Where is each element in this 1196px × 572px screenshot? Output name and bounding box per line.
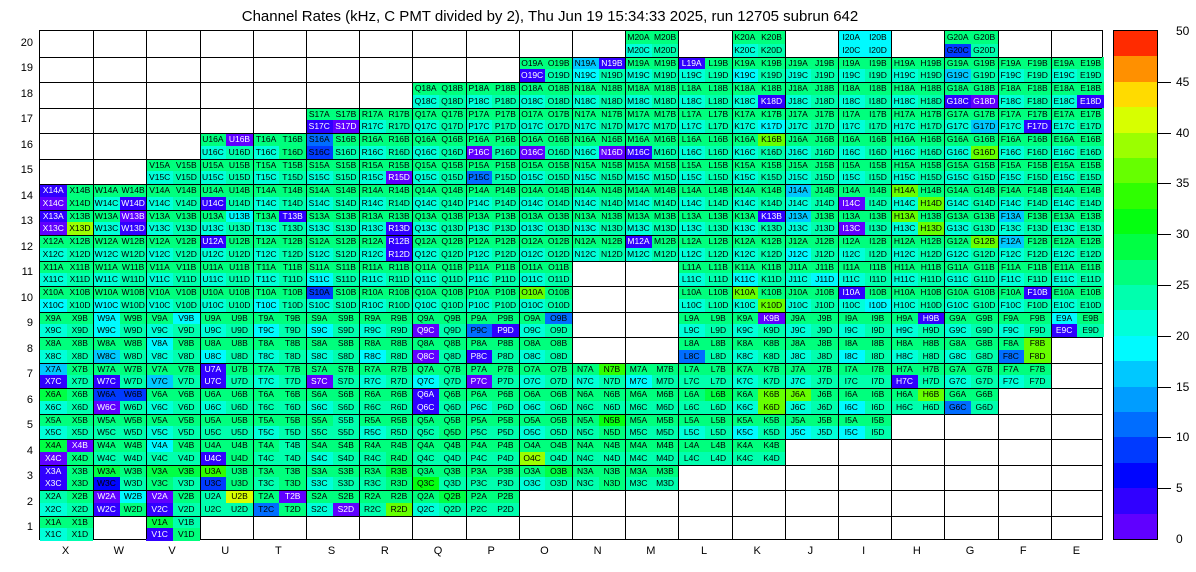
heatmap-channel-cell[interactable]: F14D <box>1024 197 1051 210</box>
heatmap-channel-cell[interactable]: O16D <box>545 146 572 159</box>
heatmap-pad[interactable]: V3AV3BV3CV3D <box>146 465 199 491</box>
heatmap-pad[interactable]: O3AO3BO3CO3D <box>519 465 572 491</box>
heatmap-channel-cell[interactable]: I13D <box>865 222 892 235</box>
heatmap-channel-cell[interactable]: L13C <box>678 222 705 235</box>
heatmap-channel-cell[interactable]: N7C <box>572 375 599 388</box>
heatmap-channel-cell[interactable]: L6D <box>705 401 732 414</box>
heatmap-pad[interactable]: H9AH9BH9CH9D <box>891 312 944 338</box>
heatmap-channel-cell[interactable]: U4A <box>200 439 227 452</box>
heatmap-channel-cell[interactable]: P14A <box>466 184 493 197</box>
heatmap-pad[interactable]: Q4AQ4BQ4CQ4D <box>412 439 465 465</box>
heatmap-channel-cell[interactable]: Q15D <box>439 171 466 184</box>
heatmap-channel-cell[interactable]: M13C <box>625 222 652 235</box>
heatmap-pad[interactable]: P3AP3BP3CP3D <box>466 465 519 491</box>
heatmap-channel-cell[interactable]: N15D <box>599 171 626 184</box>
heatmap-channel-cell[interactable]: Q11C <box>412 273 439 286</box>
heatmap-channel-cell[interactable]: F19B <box>1024 57 1051 70</box>
heatmap-channel-cell[interactable]: K12B <box>758 235 785 248</box>
heatmap-channel-cell[interactable]: K10D <box>758 299 785 312</box>
heatmap-channel-cell[interactable]: M4A <box>625 439 652 452</box>
heatmap-channel-cell[interactable]: K17A <box>732 108 759 121</box>
heatmap-channel-cell[interactable]: E13C <box>1051 222 1078 235</box>
heatmap-channel-cell[interactable]: M12C <box>625 248 652 261</box>
heatmap-pad[interactable]: T6AT6BT6CT6D <box>253 388 306 414</box>
heatmap-channel-cell[interactable]: H16D <box>918 146 945 159</box>
heatmap-channel-cell[interactable]: O5B <box>545 414 572 427</box>
heatmap-channel-cell[interactable]: Q16A <box>412 133 439 146</box>
heatmap-channel-cell[interactable]: M17C <box>625 120 652 133</box>
heatmap-pad[interactable]: U11AU11BU11CU11D <box>200 261 253 287</box>
heatmap-channel-cell[interactable]: I9D <box>865 324 892 337</box>
heatmap-channel-cell[interactable]: J11C <box>785 273 812 286</box>
heatmap-channel-cell[interactable]: K18D <box>758 95 785 108</box>
heatmap-pad[interactable]: R2AR2BR2CR2D <box>359 490 412 516</box>
heatmap-channel-cell[interactable]: X11C <box>40 273 67 286</box>
heatmap-channel-cell[interactable]: H15A <box>891 159 918 172</box>
heatmap-channel-cell[interactable]: J16A <box>785 133 812 146</box>
heatmap-channel-cell[interactable]: R15B <box>386 159 413 172</box>
heatmap-channel-cell[interactable]: V8B <box>173 337 200 350</box>
heatmap-pad[interactable]: H15AH15BH15CH15D <box>891 159 944 185</box>
heatmap-channel-cell[interactable]: X8A <box>40 337 67 350</box>
heatmap-channel-cell[interactable]: P17C <box>466 120 493 133</box>
heatmap-channel-cell[interactable]: F17C <box>998 120 1025 133</box>
heatmap-channel-cell[interactable]: Q12D <box>439 248 466 261</box>
heatmap-pad[interactable]: Q16AQ16BQ16CQ16D <box>412 133 465 159</box>
heatmap-channel-cell[interactable]: P8B <box>492 337 519 350</box>
heatmap-pad[interactable]: S4AS4BS4CS4D <box>306 439 359 465</box>
heatmap-channel-cell[interactable]: L18D <box>705 95 732 108</box>
heatmap-channel-cell[interactable]: G9A <box>944 312 971 325</box>
heatmap-channel-cell[interactable]: O11A <box>519 261 546 274</box>
heatmap-channel-cell[interactable]: V13C <box>146 222 173 235</box>
heatmap-channel-cell[interactable]: U13A <box>200 210 227 223</box>
heatmap-channel-cell[interactable]: J14C <box>785 197 812 210</box>
heatmap-channel-cell[interactable]: F18A <box>998 82 1025 95</box>
heatmap-channel-cell[interactable]: M15B <box>652 159 679 172</box>
heatmap-channel-cell[interactable]: N3D <box>599 477 626 490</box>
heatmap-channel-cell[interactable]: V7B <box>173 363 200 376</box>
heatmap-channel-cell[interactable]: T7D <box>279 375 306 388</box>
heatmap-channel-cell[interactable]: T14D <box>279 197 306 210</box>
heatmap-pad[interactable]: N12AN12BN12CN12D <box>572 235 625 261</box>
heatmap-channel-cell[interactable]: E11A <box>1051 261 1078 274</box>
heatmap-pad[interactable]: T13AT13BT13CT13D <box>253 210 306 236</box>
heatmap-channel-cell[interactable]: H9C <box>891 324 918 337</box>
heatmap-pad[interactable]: X1AX1BX1CX1D <box>40 516 93 542</box>
heatmap-pad[interactable]: O4AO4BO4CO4D <box>519 439 572 465</box>
heatmap-pad[interactable]: Q7AQ7BQ7CQ7D <box>412 363 465 389</box>
heatmap-channel-cell[interactable]: M7C <box>625 375 652 388</box>
heatmap-channel-cell[interactable]: Q9A <box>412 312 439 325</box>
heatmap-channel-cell[interactable]: L8A <box>678 337 705 350</box>
heatmap-channel-cell[interactable]: J5C <box>785 426 812 439</box>
heatmap-channel-cell[interactable]: N7A <box>572 363 599 376</box>
heatmap-pad[interactable]: S15AS15BS15CS15D <box>306 159 359 185</box>
heatmap-channel-cell[interactable]: E12D <box>1077 248 1104 261</box>
heatmap-channel-cell[interactable]: G14C <box>944 197 971 210</box>
heatmap-channel-cell[interactable]: S13D <box>333 222 360 235</box>
heatmap-channel-cell[interactable]: M6B <box>652 388 679 401</box>
heatmap-channel-cell[interactable]: R16B <box>386 133 413 146</box>
heatmap-channel-cell[interactable]: O13A <box>519 210 546 223</box>
heatmap-channel-cell[interactable]: I17C <box>838 120 865 133</box>
heatmap-pad[interactable]: H13AH13BH13CH13D <box>891 210 944 236</box>
heatmap-channel-cell[interactable]: M19A <box>625 57 652 70</box>
heatmap-channel-cell[interactable]: Q12A <box>412 235 439 248</box>
heatmap-pad[interactable]: O7AO7BO7CO7D <box>519 363 572 389</box>
heatmap-channel-cell[interactable]: E17A <box>1051 108 1078 121</box>
heatmap-channel-cell[interactable]: P2D <box>492 503 519 516</box>
heatmap-channel-cell[interactable]: E11D <box>1077 273 1104 286</box>
heatmap-pad[interactable]: R9AR9BR9CR9D <box>359 312 412 338</box>
heatmap-channel-cell[interactable]: T5B <box>279 414 306 427</box>
heatmap-channel-cell[interactable]: E11C <box>1051 273 1078 286</box>
heatmap-pad[interactable]: L15AL15BL15CL15D <box>678 159 731 185</box>
heatmap-pad[interactable]: G17AG17BG17CG17D <box>944 108 997 134</box>
heatmap-channel-cell[interactable]: S7A <box>306 363 333 376</box>
heatmap-channel-cell[interactable]: G17B <box>971 108 998 121</box>
heatmap-channel-cell[interactable]: H11B <box>918 261 945 274</box>
heatmap-channel-cell[interactable]: Q15A <box>412 159 439 172</box>
heatmap-channel-cell[interactable]: V3A <box>146 465 173 478</box>
heatmap-pad[interactable]: R4AR4BR4CR4D <box>359 439 412 465</box>
heatmap-channel-cell[interactable]: R6A <box>359 388 386 401</box>
heatmap-channel-cell[interactable]: S9B <box>333 312 360 325</box>
heatmap-channel-cell[interactable]: H12B <box>918 235 945 248</box>
heatmap-channel-cell[interactable]: T12A <box>253 235 280 248</box>
heatmap-channel-cell[interactable]: H7D <box>918 375 945 388</box>
heatmap-channel-cell[interactable]: U11A <box>200 261 227 274</box>
heatmap-channel-cell[interactable]: S6D <box>333 401 360 414</box>
heatmap-channel-cell[interactable]: W5C <box>93 426 120 439</box>
heatmap-channel-cell[interactable]: R12D <box>386 248 413 261</box>
heatmap-channel-cell[interactable]: O10D <box>545 299 572 312</box>
heatmap-channel-cell[interactable]: G6C <box>944 401 971 414</box>
heatmap-channel-cell[interactable]: G20A <box>944 31 971 44</box>
heatmap-channel-cell[interactable]: R10D <box>386 299 413 312</box>
heatmap-channel-cell[interactable]: I6A <box>838 388 865 401</box>
heatmap-channel-cell[interactable]: I7A <box>838 363 865 376</box>
heatmap-channel-cell[interactable]: P13D <box>492 222 519 235</box>
heatmap-channel-cell[interactable]: E10A <box>1051 286 1078 299</box>
heatmap-channel-cell[interactable]: H12A <box>891 235 918 248</box>
heatmap-channel-cell[interactable]: V6D <box>173 401 200 414</box>
heatmap-channel-cell[interactable]: K11D <box>758 273 785 286</box>
heatmap-channel-cell[interactable]: N16B <box>599 133 626 146</box>
heatmap-channel-cell[interactable]: S9C <box>306 324 333 337</box>
heatmap-channel-cell[interactable]: J13B <box>811 210 838 223</box>
heatmap-channel-cell[interactable]: M3B <box>652 465 679 478</box>
heatmap-channel-cell[interactable]: W11B <box>120 261 147 274</box>
heatmap-pad[interactable]: W2AW2BW2CW2D <box>93 490 146 516</box>
heatmap-pad[interactable]: L4AL4BL4CL4D <box>678 439 731 465</box>
heatmap-channel-cell[interactable]: P16B <box>492 133 519 146</box>
heatmap-channel-cell[interactable]: T16C <box>253 146 280 159</box>
heatmap-channel-cell[interactable]: Q18A <box>412 82 439 95</box>
heatmap-channel-cell[interactable]: G10D <box>971 299 998 312</box>
heatmap-channel-cell[interactable]: K12C <box>732 248 759 261</box>
heatmap-channel-cell[interactable]: K16B <box>758 133 785 146</box>
heatmap-channel-cell[interactable]: O12D <box>545 248 572 261</box>
heatmap-channel-cell[interactable]: K13C <box>732 222 759 235</box>
heatmap-channel-cell[interactable]: U11B <box>226 261 253 274</box>
heatmap-channel-cell[interactable]: S12C <box>306 248 333 261</box>
heatmap-pad[interactable]: Q2AQ2BQ2CQ2D <box>412 490 465 516</box>
heatmap-channel-cell[interactable]: G6D <box>971 401 998 414</box>
heatmap-channel-cell[interactable]: K4B <box>758 439 785 452</box>
heatmap-channel-cell[interactable]: L8C <box>678 350 705 363</box>
heatmap-channel-cell[interactable]: R12C <box>359 248 386 261</box>
heatmap-channel-cell[interactable]: S8B <box>333 337 360 350</box>
heatmap-pad[interactable]: J14AJ14BJ14CJ14D <box>785 184 838 210</box>
heatmap-channel-cell[interactable]: I13B <box>865 210 892 223</box>
heatmap-pad[interactable]: J17AJ17BJ17CJ17D <box>785 108 838 134</box>
heatmap-channel-cell[interactable]: T8B <box>279 337 306 350</box>
heatmap-channel-cell[interactable]: K7A <box>732 363 759 376</box>
heatmap-channel-cell[interactable]: S16A <box>306 133 333 146</box>
heatmap-channel-cell[interactable]: O9B <box>545 312 572 325</box>
heatmap-channel-cell[interactable]: Q16C <box>412 146 439 159</box>
heatmap-channel-cell[interactable]: S5A <box>306 414 333 427</box>
heatmap-channel-cell[interactable]: U14B <box>226 184 253 197</box>
heatmap-channel-cell[interactable]: K13B <box>758 210 785 223</box>
heatmap-pad[interactable]: W4AW4BW4CW4D <box>93 439 146 465</box>
heatmap-channel-cell[interactable]: Q2C <box>412 503 439 516</box>
heatmap-channel-cell[interactable]: J6A <box>785 388 812 401</box>
heatmap-channel-cell[interactable]: W3D <box>120 477 147 490</box>
heatmap-channel-cell[interactable]: H6D <box>918 401 945 414</box>
heatmap-channel-cell[interactable]: Q4D <box>439 452 466 465</box>
heatmap-channel-cell[interactable]: Q4A <box>412 439 439 452</box>
heatmap-channel-cell[interactable]: V9B <box>173 312 200 325</box>
heatmap-channel-cell[interactable]: R5D <box>386 426 413 439</box>
heatmap-pad[interactable]: K4AK4BK4CK4D <box>732 439 785 465</box>
heatmap-pad[interactable]: Q8AQ8BQ8CQ8D <box>412 337 465 363</box>
heatmap-channel-cell[interactable]: X10B <box>67 286 94 299</box>
heatmap-pad[interactable]: T7AT7BT7CT7D <box>253 363 306 389</box>
heatmap-pad[interactable]: W7AW7BW7CW7D <box>93 363 146 389</box>
heatmap-channel-cell[interactable]: K14C <box>732 197 759 210</box>
heatmap-pad[interactable]: V13AV13BV13CV13D <box>146 210 199 236</box>
heatmap-channel-cell[interactable]: M16B <box>652 133 679 146</box>
heatmap-channel-cell[interactable]: L14D <box>705 197 732 210</box>
heatmap-channel-cell[interactable]: L9B <box>705 312 732 325</box>
heatmap-channel-cell[interactable]: U13D <box>226 222 253 235</box>
heatmap-channel-cell[interactable]: T5C <box>253 426 280 439</box>
heatmap-channel-cell[interactable]: W14C <box>93 197 120 210</box>
heatmap-channel-cell[interactable]: Q5B <box>439 414 466 427</box>
heatmap-channel-cell[interactable]: P6A <box>466 388 493 401</box>
heatmap-channel-cell[interactable]: G19A <box>944 57 971 70</box>
heatmap-channel-cell[interactable]: R15C <box>359 171 386 184</box>
heatmap-channel-cell[interactable]: V14D <box>173 197 200 210</box>
heatmap-channel-cell[interactable]: F8C <box>998 350 1025 363</box>
heatmap-channel-cell[interactable]: G15C <box>944 171 971 184</box>
heatmap-channel-cell[interactable]: R17A <box>359 108 386 121</box>
heatmap-pad[interactable]: E14AE14BE14CE14D <box>1051 184 1104 210</box>
heatmap-channel-cell[interactable]: N5D <box>599 426 626 439</box>
heatmap-pad[interactable]: P18AP18BP18CP18D <box>466 82 519 108</box>
heatmap-channel-cell[interactable]: I18C <box>838 95 865 108</box>
heatmap-channel-cell[interactable]: R7D <box>386 375 413 388</box>
heatmap-channel-cell[interactable]: V5D <box>173 426 200 439</box>
heatmap-channel-cell[interactable]: X1C <box>40 528 67 541</box>
heatmap-channel-cell[interactable]: P18C <box>466 95 493 108</box>
heatmap-channel-cell[interactable]: W2A <box>93 490 120 503</box>
heatmap-channel-cell[interactable]: T8D <box>279 350 306 363</box>
heatmap-channel-cell[interactable]: Q13A <box>412 210 439 223</box>
heatmap-channel-cell[interactable]: J15C <box>785 171 812 184</box>
heatmap-pad[interactable]: O6AO6BO6CO6D <box>519 388 572 414</box>
heatmap-channel-cell[interactable]: G12A <box>944 235 971 248</box>
heatmap-channel-cell[interactable]: R2D <box>386 503 413 516</box>
heatmap-channel-cell[interactable]: I15C <box>838 171 865 184</box>
heatmap-channel-cell[interactable]: P9B <box>492 312 519 325</box>
heatmap-channel-cell[interactable]: I20C <box>838 44 865 57</box>
heatmap-pad[interactable]: E10AE10BE10CE10D <box>1051 286 1104 312</box>
heatmap-channel-cell[interactable]: G13C <box>944 222 971 235</box>
heatmap-pad[interactable]: Q18AQ18BQ18CQ18D <box>412 82 465 108</box>
heatmap-channel-cell[interactable]: G18C <box>944 95 971 108</box>
heatmap-channel-cell[interactable]: I17D <box>865 120 892 133</box>
heatmap-channel-cell[interactable]: V1C <box>146 528 173 541</box>
heatmap-channel-cell[interactable]: Q18C <box>412 95 439 108</box>
heatmap-channel-cell[interactable]: S8A <box>306 337 333 350</box>
heatmap-channel-cell[interactable]: K8D <box>758 350 785 363</box>
heatmap-channel-cell[interactable]: Q8D <box>439 350 466 363</box>
heatmap-channel-cell[interactable]: T13D <box>279 222 306 235</box>
heatmap-channel-cell[interactable]: O3D <box>545 477 572 490</box>
heatmap-channel-cell[interactable]: V2A <box>146 490 173 503</box>
heatmap-channel-cell[interactable]: W3B <box>120 465 147 478</box>
heatmap-channel-cell[interactable]: R6C <box>359 401 386 414</box>
heatmap-pad[interactable]: L17AL17BL17CL17D <box>678 108 731 134</box>
heatmap-channel-cell[interactable]: J12A <box>785 235 812 248</box>
heatmap-channel-cell[interactable]: G11D <box>971 273 998 286</box>
heatmap-channel-cell[interactable]: L4C <box>678 452 705 465</box>
heatmap-channel-cell[interactable]: H15C <box>891 171 918 184</box>
heatmap-channel-cell[interactable]: P14D <box>492 197 519 210</box>
heatmap-channel-cell[interactable]: L17D <box>705 120 732 133</box>
heatmap-channel-cell[interactable]: H7B <box>918 363 945 376</box>
heatmap-pad[interactable]: I18AI18BI18CI18D <box>838 82 891 108</box>
heatmap-pad[interactable]: K5AK5BK5CK5D <box>732 414 785 440</box>
heatmap-channel-cell[interactable]: E9D <box>1077 324 1104 337</box>
heatmap-channel-cell[interactable]: L12A <box>678 235 705 248</box>
heatmap-channel-cell[interactable]: K8C <box>732 350 759 363</box>
heatmap-channel-cell[interactable]: T6D <box>279 401 306 414</box>
heatmap-pad[interactable]: X3AX3BX3CX3D <box>40 465 93 491</box>
heatmap-channel-cell[interactable]: Q14A <box>412 184 439 197</box>
heatmap-channel-cell[interactable]: M6D <box>652 401 679 414</box>
heatmap-channel-cell[interactable]: N3C <box>572 477 599 490</box>
heatmap-channel-cell[interactable]: Q12C <box>412 248 439 261</box>
heatmap-channel-cell[interactable]: J11A <box>785 261 812 274</box>
heatmap-pad[interactable]: U4AU4BU4CU4D <box>200 439 253 465</box>
heatmap-channel-cell[interactable]: I18A <box>838 82 865 95</box>
heatmap-channel-cell[interactable]: W7B <box>120 363 147 376</box>
heatmap-channel-cell[interactable]: K6A <box>732 388 759 401</box>
heatmap-channel-cell[interactable]: O10B <box>545 286 572 299</box>
heatmap-channel-cell[interactable]: H19D <box>918 69 945 82</box>
heatmap-pad[interactable]: J16AJ16BJ16CJ16D <box>785 133 838 159</box>
heatmap-channel-cell[interactable]: G17D <box>971 120 998 133</box>
heatmap-channel-cell[interactable]: L5B <box>705 414 732 427</box>
heatmap-channel-cell[interactable]: F9C <box>998 324 1025 337</box>
heatmap-channel-cell[interactable]: R8D <box>386 350 413 363</box>
heatmap-channel-cell[interactable]: U8C <box>200 350 227 363</box>
heatmap-channel-cell[interactable]: V5C <box>146 426 173 439</box>
heatmap-pad[interactable]: F11AF11BF11CF11D <box>998 261 1051 287</box>
heatmap-channel-cell[interactable]: I8D <box>865 350 892 363</box>
heatmap-pad[interactable]: E18AE18BE18CE18D <box>1051 82 1104 108</box>
heatmap-channel-cell[interactable]: R14D <box>386 197 413 210</box>
heatmap-channel-cell[interactable]: N14C <box>572 197 599 210</box>
heatmap-pad[interactable]: L10AL10BL10CL10D <box>678 286 731 312</box>
heatmap-channel-cell[interactable]: M14A <box>625 184 652 197</box>
heatmap-channel-cell[interactable]: V6C <box>146 401 173 414</box>
heatmap-channel-cell[interactable]: U10C <box>200 299 227 312</box>
heatmap-channel-cell[interactable]: R7B <box>386 363 413 376</box>
heatmap-channel-cell[interactable]: G16A <box>944 133 971 146</box>
heatmap-channel-cell[interactable]: P8C <box>466 350 493 363</box>
heatmap-channel-cell[interactable]: X3C <box>40 477 67 490</box>
heatmap-pad[interactable]: O13AO13BO13CO13D <box>519 210 572 236</box>
heatmap-pad[interactable]: T4AT4BT4CT4D <box>253 439 306 465</box>
heatmap-pad[interactable]: H7AH7BH7CH7D <box>891 363 944 389</box>
heatmap-channel-cell[interactable]: H13D <box>918 222 945 235</box>
heatmap-channel-cell[interactable]: Q16B <box>439 133 466 146</box>
heatmap-channel-cell[interactable]: Q11B <box>439 261 466 274</box>
heatmap-channel-cell[interactable]: P4D <box>492 452 519 465</box>
heatmap-pad[interactable]: Q13AQ13BQ13CQ13D <box>412 210 465 236</box>
heatmap-channel-cell[interactable]: G9B <box>971 312 998 325</box>
heatmap-channel-cell[interactable]: Q8C <box>412 350 439 363</box>
heatmap-channel-cell[interactable]: M5D <box>652 426 679 439</box>
heatmap-channel-cell[interactable]: I8B <box>865 337 892 350</box>
heatmap-channel-cell[interactable]: S11C <box>306 273 333 286</box>
heatmap-channel-cell[interactable]: T5D <box>279 426 306 439</box>
heatmap-pad[interactable]: T11AT11BT11CT11D <box>253 261 306 287</box>
heatmap-channel-cell[interactable]: I9B <box>865 312 892 325</box>
heatmap-channel-cell[interactable]: K19A <box>732 57 759 70</box>
heatmap-channel-cell[interactable]: R3A <box>359 465 386 478</box>
heatmap-channel-cell[interactable]: S17B <box>333 108 360 121</box>
heatmap-channel-cell[interactable]: S4D <box>333 452 360 465</box>
heatmap-pad[interactable]: F15AF15BF15CF15D <box>998 159 1051 185</box>
heatmap-channel-cell[interactable]: K19C <box>732 69 759 82</box>
heatmap-channel-cell[interactable]: G17A <box>944 108 971 121</box>
heatmap-channel-cell[interactable]: P6C <box>466 401 493 414</box>
heatmap-pad[interactable]: I19AI19BI19CI19D <box>838 57 891 83</box>
heatmap-channel-cell[interactable]: O5C <box>519 426 546 439</box>
heatmap-channel-cell[interactable]: L12B <box>705 235 732 248</box>
heatmap-channel-cell[interactable]: M12A <box>625 235 652 248</box>
heatmap-channel-cell[interactable]: T2C <box>253 503 280 516</box>
heatmap-channel-cell[interactable]: Q7A <box>412 363 439 376</box>
heatmap-channel-cell[interactable]: H17C <box>891 120 918 133</box>
heatmap-channel-cell[interactable]: R15A <box>359 159 386 172</box>
heatmap-channel-cell[interactable]: S5B <box>333 414 360 427</box>
heatmap-channel-cell[interactable]: H15D <box>918 171 945 184</box>
heatmap-pad[interactable]: L13AL13BL13CL13D <box>678 210 731 236</box>
heatmap-channel-cell[interactable]: G9C <box>944 324 971 337</box>
heatmap-channel-cell[interactable]: E19C <box>1051 69 1078 82</box>
heatmap-channel-cell[interactable]: P17A <box>466 108 493 121</box>
heatmap-channel-cell[interactable]: K18C <box>732 95 759 108</box>
heatmap-channel-cell[interactable]: I9C <box>838 324 865 337</box>
